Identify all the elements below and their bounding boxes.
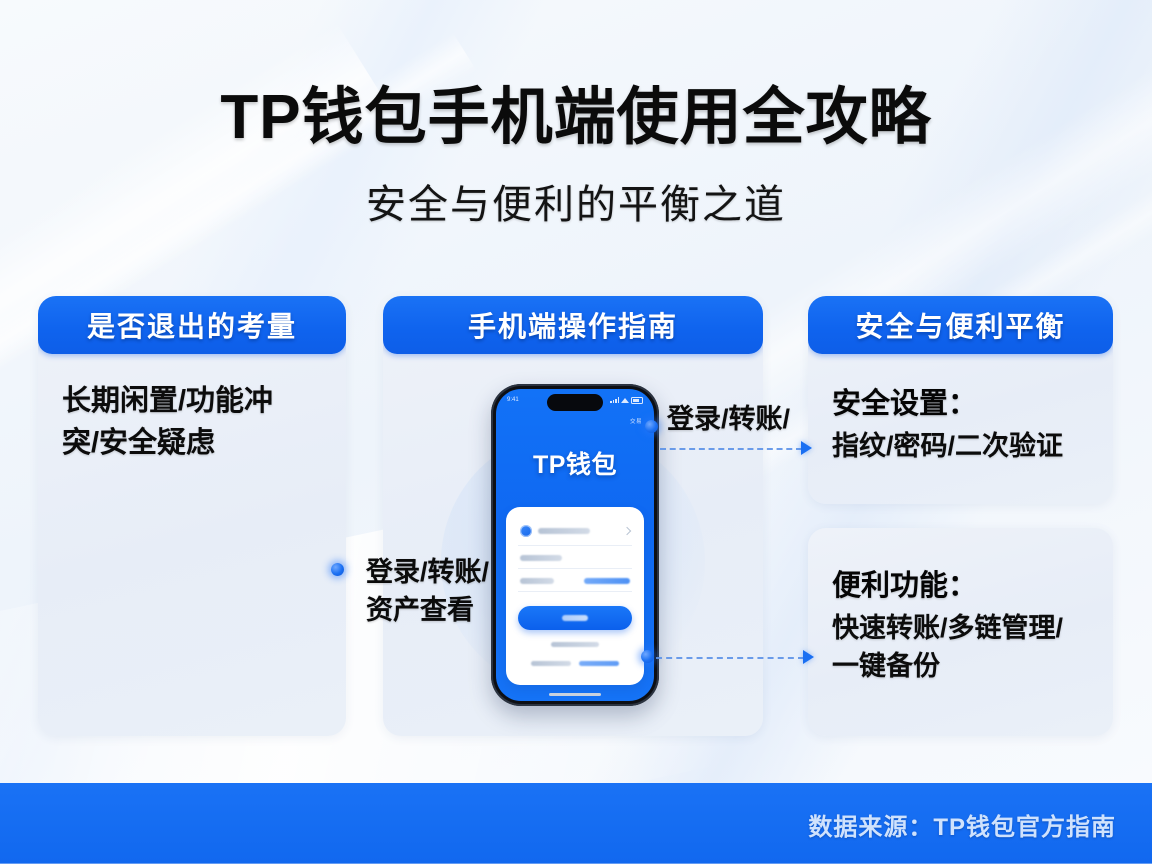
field-label-blurred [520, 578, 554, 584]
home-indicator [549, 693, 601, 696]
status-time: 9:41 [507, 397, 519, 403]
app-secondary-note [518, 642, 632, 647]
security-settings-title: 安全设置： [832, 380, 1089, 422]
wifi-icon [621, 398, 629, 403]
convenience-text-line-1: 快速转账/多链管理/ [832, 610, 1089, 648]
security-settings-text: 指纹/密码/二次验证 [832, 428, 1089, 466]
card-header-mobile-guide: 手机端操作指南 [383, 296, 763, 354]
connector-line-upper [660, 448, 802, 450]
button-label-blurred [562, 615, 588, 621]
card-body-convenience: 便利功能： 快速转账/多链管理/ 一键备份 [808, 528, 1113, 686]
annotation-dot-left [331, 563, 344, 576]
card-security-balance: 安全与便利平衡 安全设置： 指纹/密码/二次验证 [808, 296, 1113, 504]
annotation-top-right: 登录/转账/ [667, 400, 790, 438]
card-header-security-balance: 安全与便利平衡 [808, 296, 1113, 354]
footer-bar: 数据来源：TP钱包官方指南 [0, 783, 1152, 864]
card-header-label: 安全与便利平衡 [855, 305, 1065, 345]
annotation-left-line-2: 资产查看 [366, 591, 489, 629]
coin-icon [520, 525, 532, 537]
card-header-label: 是否退出的考量 [87, 305, 297, 345]
slide-canvas: TP钱包手机端使用全攻略 安全与便利的平衡之道 是否退出的考量 长期闲置/功能冲… [0, 0, 1152, 864]
field-value-blurred [538, 528, 590, 534]
annotation-left-line-1: 登录/转账/ [366, 553, 489, 591]
convenience-title: 便利功能： [832, 562, 1089, 604]
connector-arrow-lower [803, 650, 814, 664]
card-header-label: 手机端操作指南 [468, 305, 678, 345]
battery-icon [631, 397, 643, 404]
footer-link-blurred[interactable] [531, 661, 571, 666]
chevron-right-icon [623, 527, 631, 535]
status-icons [610, 397, 643, 404]
phone-screen: 9:41 交易 TP钱包 [496, 389, 654, 701]
connector-arrow-upper [801, 441, 812, 455]
phone-app-card [506, 507, 644, 685]
annotation-dot-lower [641, 650, 654, 663]
app-field-amount[interactable] [518, 569, 632, 592]
page-subtitle: 安全与便利的平衡之道 [0, 172, 1152, 230]
phone-screen-label: 交易 [630, 417, 642, 425]
signal-icon [610, 397, 619, 403]
exit-reason-line-2: 突/安全疑虑 [62, 422, 322, 464]
note-blurred [551, 642, 599, 647]
annotation-left: 登录/转账/ 资产查看 [366, 553, 489, 630]
footer-source-label: 数据来源：TP钱包官方指南 [808, 807, 1116, 842]
card-convenience-features: 便利功能： 快速转账/多链管理/ 一键备份 [808, 528, 1113, 736]
field-label-blurred [520, 555, 562, 561]
app-primary-button[interactable] [518, 606, 632, 630]
phone-device: 9:41 交易 TP钱包 [491, 384, 659, 706]
exit-reason-line-1: 长期闲置/功能冲 [62, 380, 322, 422]
card-header-exit-considerations: 是否退出的考量 [38, 296, 346, 354]
app-footer-links[interactable] [518, 661, 632, 666]
card-body-security-settings: 安全设置： 指纹/密码/二次验证 [808, 354, 1113, 466]
page-title: TP钱包手机端使用全攻略 [0, 66, 1152, 156]
connector-line-lower [656, 657, 804, 659]
app-field-account[interactable] [518, 519, 632, 546]
field-action-blurred[interactable] [584, 578, 630, 584]
phone-app-brand: TP钱包 [496, 445, 654, 481]
app-field-address[interactable] [518, 546, 632, 569]
annotation-dot-upper [645, 420, 658, 433]
convenience-text-line-2: 一键备份 [832, 648, 1089, 686]
card-body-exit-considerations: 长期闲置/功能冲 突/安全疑虑 [38, 354, 346, 464]
phone-notch [547, 394, 603, 411]
card-exit-considerations: 是否退出的考量 长期闲置/功能冲 突/安全疑虑 [38, 296, 346, 736]
footer-link-blurred[interactable] [579, 661, 619, 666]
